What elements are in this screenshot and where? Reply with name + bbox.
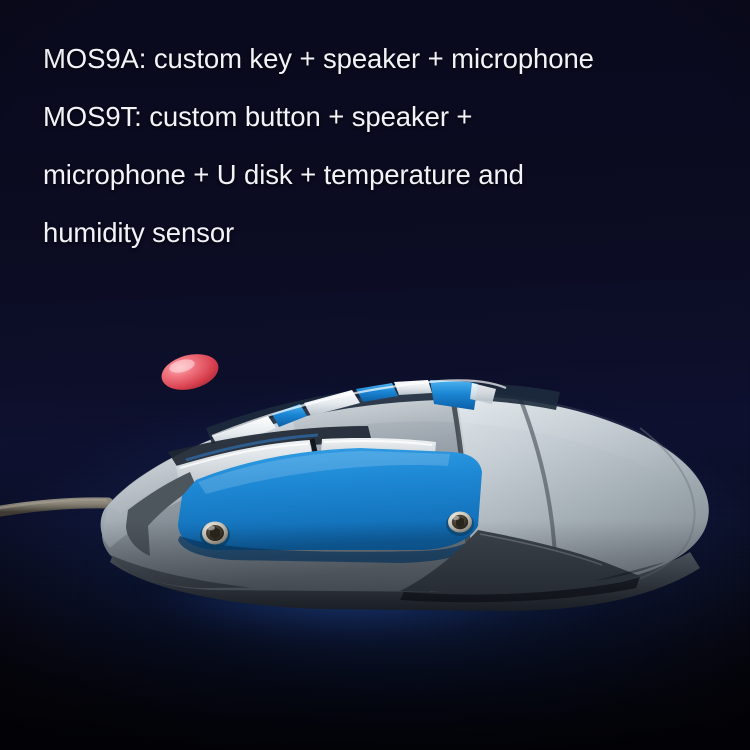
mouse-cable-group: [0, 500, 108, 512]
product-image-canvas: MOS9A: custom key + speaker + microphone…: [0, 0, 750, 750]
hex-screw-left-glint: [207, 526, 215, 531]
mouse-product-photo: [0, 300, 750, 630]
caption-line-3: microphone + U disk + temperature and: [43, 146, 743, 204]
red-custom-button: [158, 348, 223, 395]
caption-line-1: MOS9A: custom key + speaker + microphone: [43, 30, 743, 88]
mouse-cable: [0, 503, 108, 512]
red-custom-button-group: [158, 348, 223, 395]
caption-line-2: MOS9T: custom button + speaker +: [43, 88, 743, 146]
caption-block: MOS9A: custom key + speaker + microphone…: [43, 30, 743, 262]
hex-screw-right-glint: [452, 516, 459, 520]
caption-line-4: humidity sensor: [43, 204, 743, 262]
